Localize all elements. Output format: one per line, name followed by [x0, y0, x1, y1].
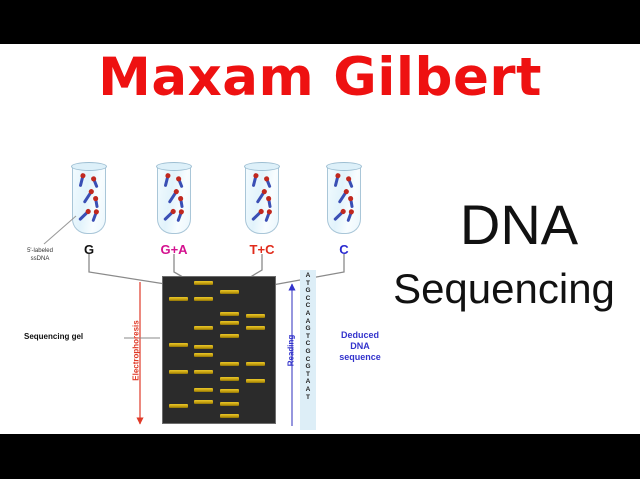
tube-glass: [245, 166, 279, 234]
reading-label: Reading: [283, 284, 299, 424]
figure-canvas: Maxam Gilbert DNA Sequencing: [0, 44, 640, 434]
dna-fragment: [94, 199, 99, 208]
gel-band: [246, 326, 265, 330]
tube-glass: [72, 166, 106, 234]
sequence-letter: T: [300, 394, 316, 402]
letterbox-bottom: [0, 434, 640, 479]
dna-fragment: [163, 211, 174, 221]
tube-rim: [71, 162, 107, 171]
gel-band: [220, 290, 239, 294]
sequence-letter: G: [300, 348, 316, 356]
dna-fragment: [251, 211, 262, 221]
letterbox-top: [0, 0, 640, 44]
reading-label-text: Reading: [287, 319, 296, 383]
gel-band: [169, 297, 188, 301]
sequence-letter: C: [300, 340, 316, 348]
dna-fragment: [92, 179, 98, 188]
test-tube-tc: [245, 162, 279, 234]
deduced-line1: Deduced: [322, 330, 398, 341]
test-tube-c: [327, 162, 361, 234]
heading-dna: DNA: [404, 196, 634, 254]
gel-band: [169, 370, 188, 374]
sequence-letter: A: [300, 318, 316, 326]
dna-fragment: [176, 212, 182, 222]
gel-band: [194, 388, 213, 392]
gel-band: [220, 414, 239, 418]
gel-band: [220, 334, 239, 338]
tube-label-tc: T+C: [222, 242, 302, 257]
gel-band: [169, 404, 188, 408]
gel-band: [220, 321, 239, 325]
dna-fragment: [267, 199, 272, 208]
deduced-line3: sequence: [322, 352, 398, 363]
dna-fragment: [91, 212, 97, 222]
dna-fragment: [164, 176, 170, 187]
tube-rim: [156, 162, 192, 171]
dna-fragment: [256, 191, 266, 204]
sequence-letter: C: [300, 295, 316, 303]
tube-label-text2: A: [178, 242, 187, 257]
gel-band: [220, 312, 239, 316]
figure-frame: Maxam Gilbert DNA Sequencing: [0, 0, 640, 479]
sequence-letter: C: [300, 356, 316, 364]
sequencing-gel: [162, 276, 276, 424]
ssdna-line1: 5'-labeled: [8, 247, 72, 255]
tube-label-text: C: [339, 242, 348, 257]
deduced-sequence-label: Deduced DNA sequence: [322, 330, 398, 363]
gel-band: [194, 345, 213, 349]
sequence-letter: C: [300, 302, 316, 310]
tube-glass: [327, 166, 361, 234]
tube-glass: [157, 166, 191, 234]
gel-band: [169, 343, 188, 347]
sequence-letter: G: [300, 287, 316, 295]
dna-fragment: [83, 191, 93, 204]
gel-band: [246, 362, 265, 366]
ssdna-callout-label: 5'-labeled ssDNA: [8, 247, 72, 263]
dna-fragment: [333, 211, 344, 221]
tube-rim: [326, 162, 362, 171]
gel-band: [220, 389, 239, 393]
test-tube-ga: [157, 162, 191, 234]
gel-band: [194, 297, 213, 301]
gel-band: [194, 353, 213, 357]
page-title: Maxam Gilbert: [0, 48, 640, 108]
gel-band: [194, 281, 213, 285]
dna-fragment: [349, 199, 354, 208]
sequence-letter: T: [300, 333, 316, 341]
gel-band: [246, 314, 265, 318]
dna-fragment: [265, 179, 271, 188]
test-tube-g: [72, 162, 106, 234]
gel-band: [220, 377, 239, 381]
dna-fragment: [346, 212, 352, 222]
gel-band: [220, 402, 239, 406]
dna-fragment: [179, 199, 184, 208]
dna-fragment: [347, 179, 353, 188]
gel-band: [194, 370, 213, 374]
deduced-sequence-column: ATGCCAAGTCGCGTAAT: [300, 270, 316, 430]
deduced-line2: DNA: [322, 341, 398, 352]
gel-band: [194, 400, 213, 404]
tube-label-text: G: [160, 242, 170, 257]
dna-fragment: [338, 191, 348, 204]
dna-fragment: [252, 176, 258, 187]
dna-fragment: [264, 212, 270, 222]
dna-fragment: [334, 176, 340, 187]
dna-fragment: [168, 191, 178, 204]
sequence-letter: A: [300, 386, 316, 394]
gel-band: [246, 379, 265, 383]
gel-band: [194, 326, 213, 330]
tube-label-c: C: [304, 242, 384, 257]
tube-label-text: G: [84, 242, 94, 257]
sequence-letter: G: [300, 325, 316, 333]
sequence-letter: A: [300, 272, 316, 280]
sequence-letter: A: [300, 310, 316, 318]
sequence-letter: T: [300, 371, 316, 379]
dna-fragment: [79, 176, 85, 187]
electrophoresis-label-text: Electrophoresis: [132, 311, 141, 391]
tube-label-plus: +: [257, 242, 265, 257]
electrophoresis-label: Electrophoresis: [128, 284, 144, 424]
sequence-letter: A: [300, 378, 316, 386]
ssdna-line2: ssDNA: [8, 255, 72, 263]
gel-band: [220, 362, 239, 366]
tube-label-ga: G+A: [134, 242, 214, 257]
dna-fragment: [78, 211, 89, 221]
sequencing-gel-caption: Sequencing gel: [24, 332, 83, 341]
sequence-letter: T: [300, 280, 316, 288]
dna-fragment: [177, 179, 183, 188]
sequence-letter: G: [300, 363, 316, 371]
heading-sequencing: Sequencing: [368, 266, 640, 312]
tube-rim: [244, 162, 280, 171]
tube-label-text2: C: [265, 242, 274, 257]
